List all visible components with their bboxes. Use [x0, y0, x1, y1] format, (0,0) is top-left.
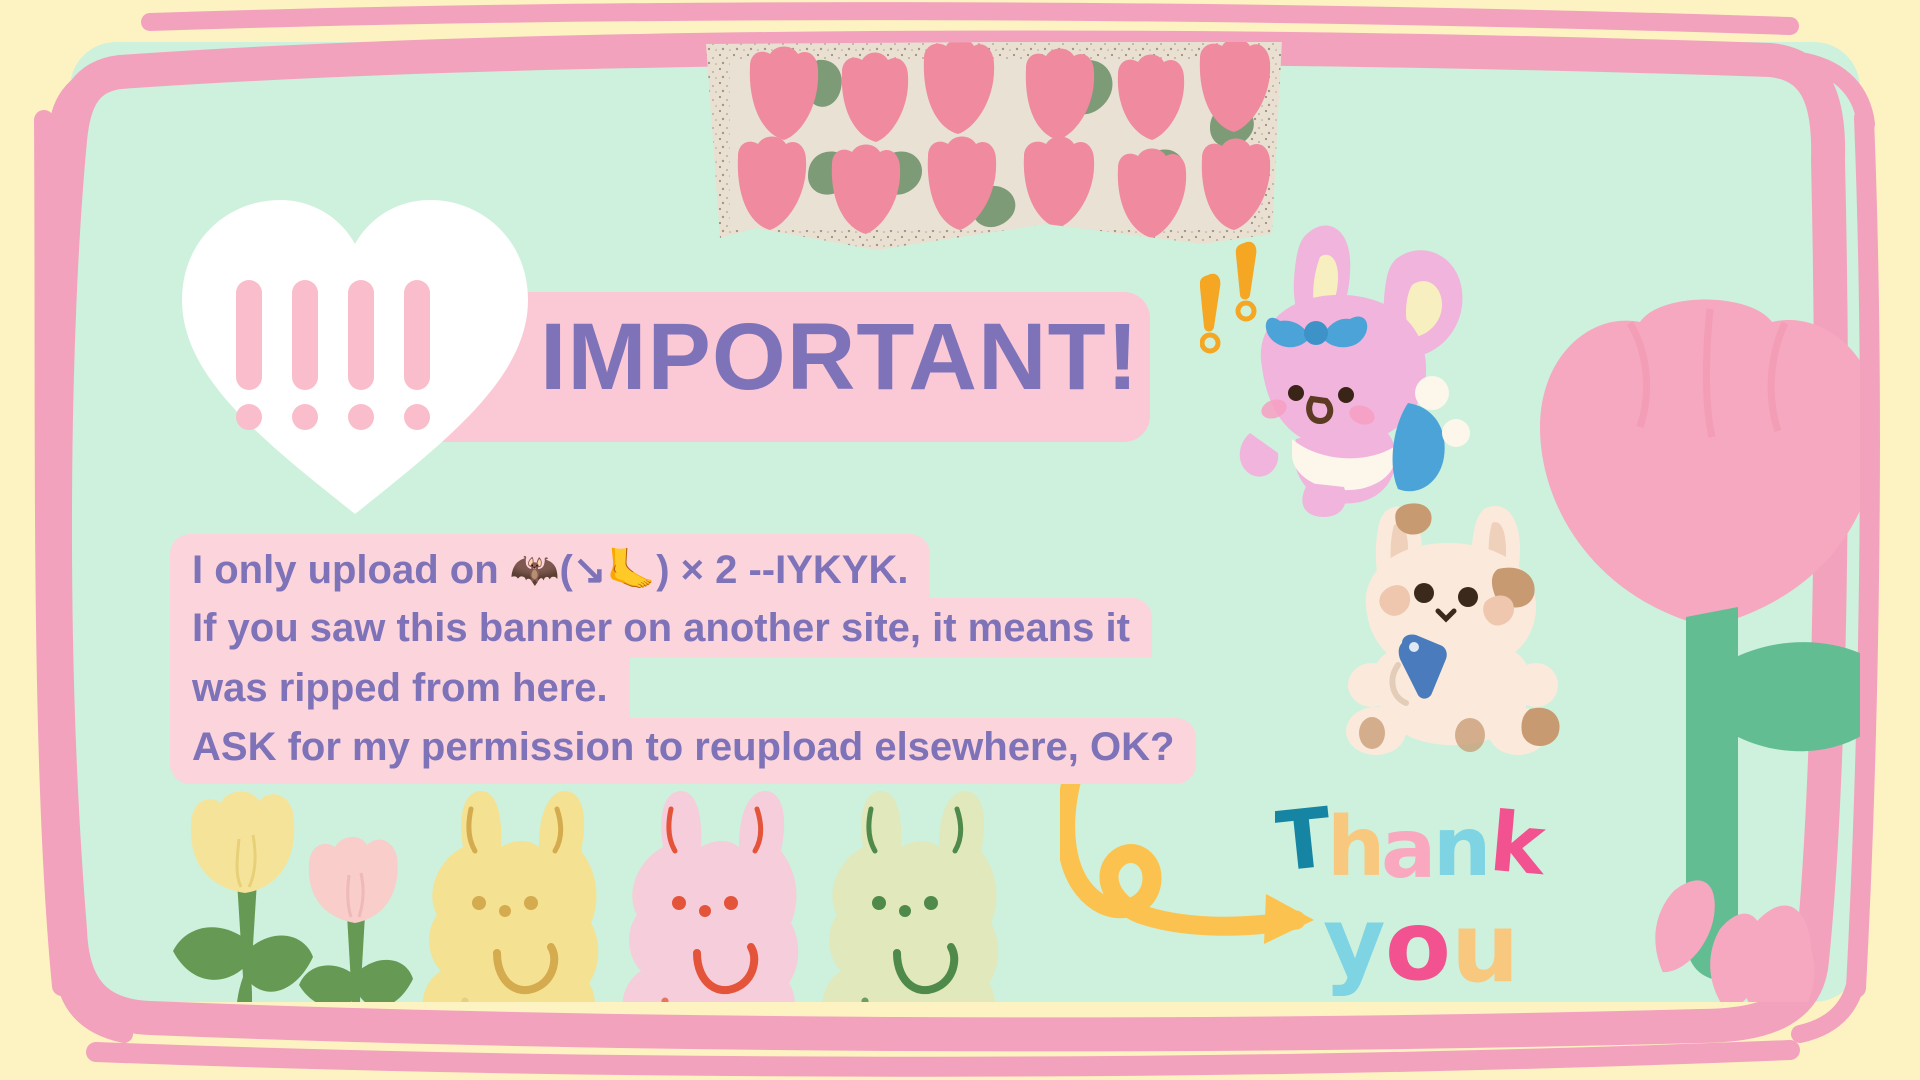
svg-text:o: o: [1385, 890, 1451, 1002]
thank-you-line-1: T h a n k: [1275, 797, 1551, 897]
svg-text:h: h: [1327, 800, 1385, 895]
thank-you-lettering: T h a n k y o u: [1275, 797, 1575, 1002]
cream-bunny-with-phone: [1340, 497, 1570, 762]
gummy-bunny-green: [805, 787, 1005, 1002]
svg-text:u: u: [1451, 892, 1519, 1002]
svg-text:n: n: [1433, 800, 1491, 895]
banner-root: IMPORTANT! I only upload on 🦇(↘🦶) × 2 --…: [0, 0, 1920, 1080]
white-heart: [170, 192, 540, 522]
message-line-4: ASK for my permission to reupload elsewh…: [170, 718, 1196, 784]
tulip-yellow: [173, 791, 313, 1002]
pink-bunny-character: [1200, 217, 1490, 517]
gummy-bunny-pink: [605, 787, 805, 1002]
svg-text:a: a: [1381, 802, 1436, 897]
svg-text:k: k: [1486, 797, 1551, 894]
thank-you-line-2: y o u: [1323, 886, 1519, 1002]
tulip-pink: [299, 837, 413, 1002]
gummy-bunny-yellow: [405, 787, 605, 1002]
message-line-3: was ripped from here.: [170, 658, 630, 718]
tulip-washi-tape: [690, 42, 1290, 256]
svg-text:y: y: [1323, 886, 1386, 998]
orange-exclamation-marks: [1200, 242, 1256, 351]
message-block: I only upload on 🦇(↘🦶) × 2 --IYKYK. If y…: [170, 534, 1250, 784]
message-line-2: If you saw this banner on another site, …: [170, 598, 1152, 658]
page-title: IMPORTANT!: [540, 310, 1139, 405]
message-line-1: I only upload on 🦇(↘🦶) × 2 --IYKYK.: [170, 534, 930, 598]
